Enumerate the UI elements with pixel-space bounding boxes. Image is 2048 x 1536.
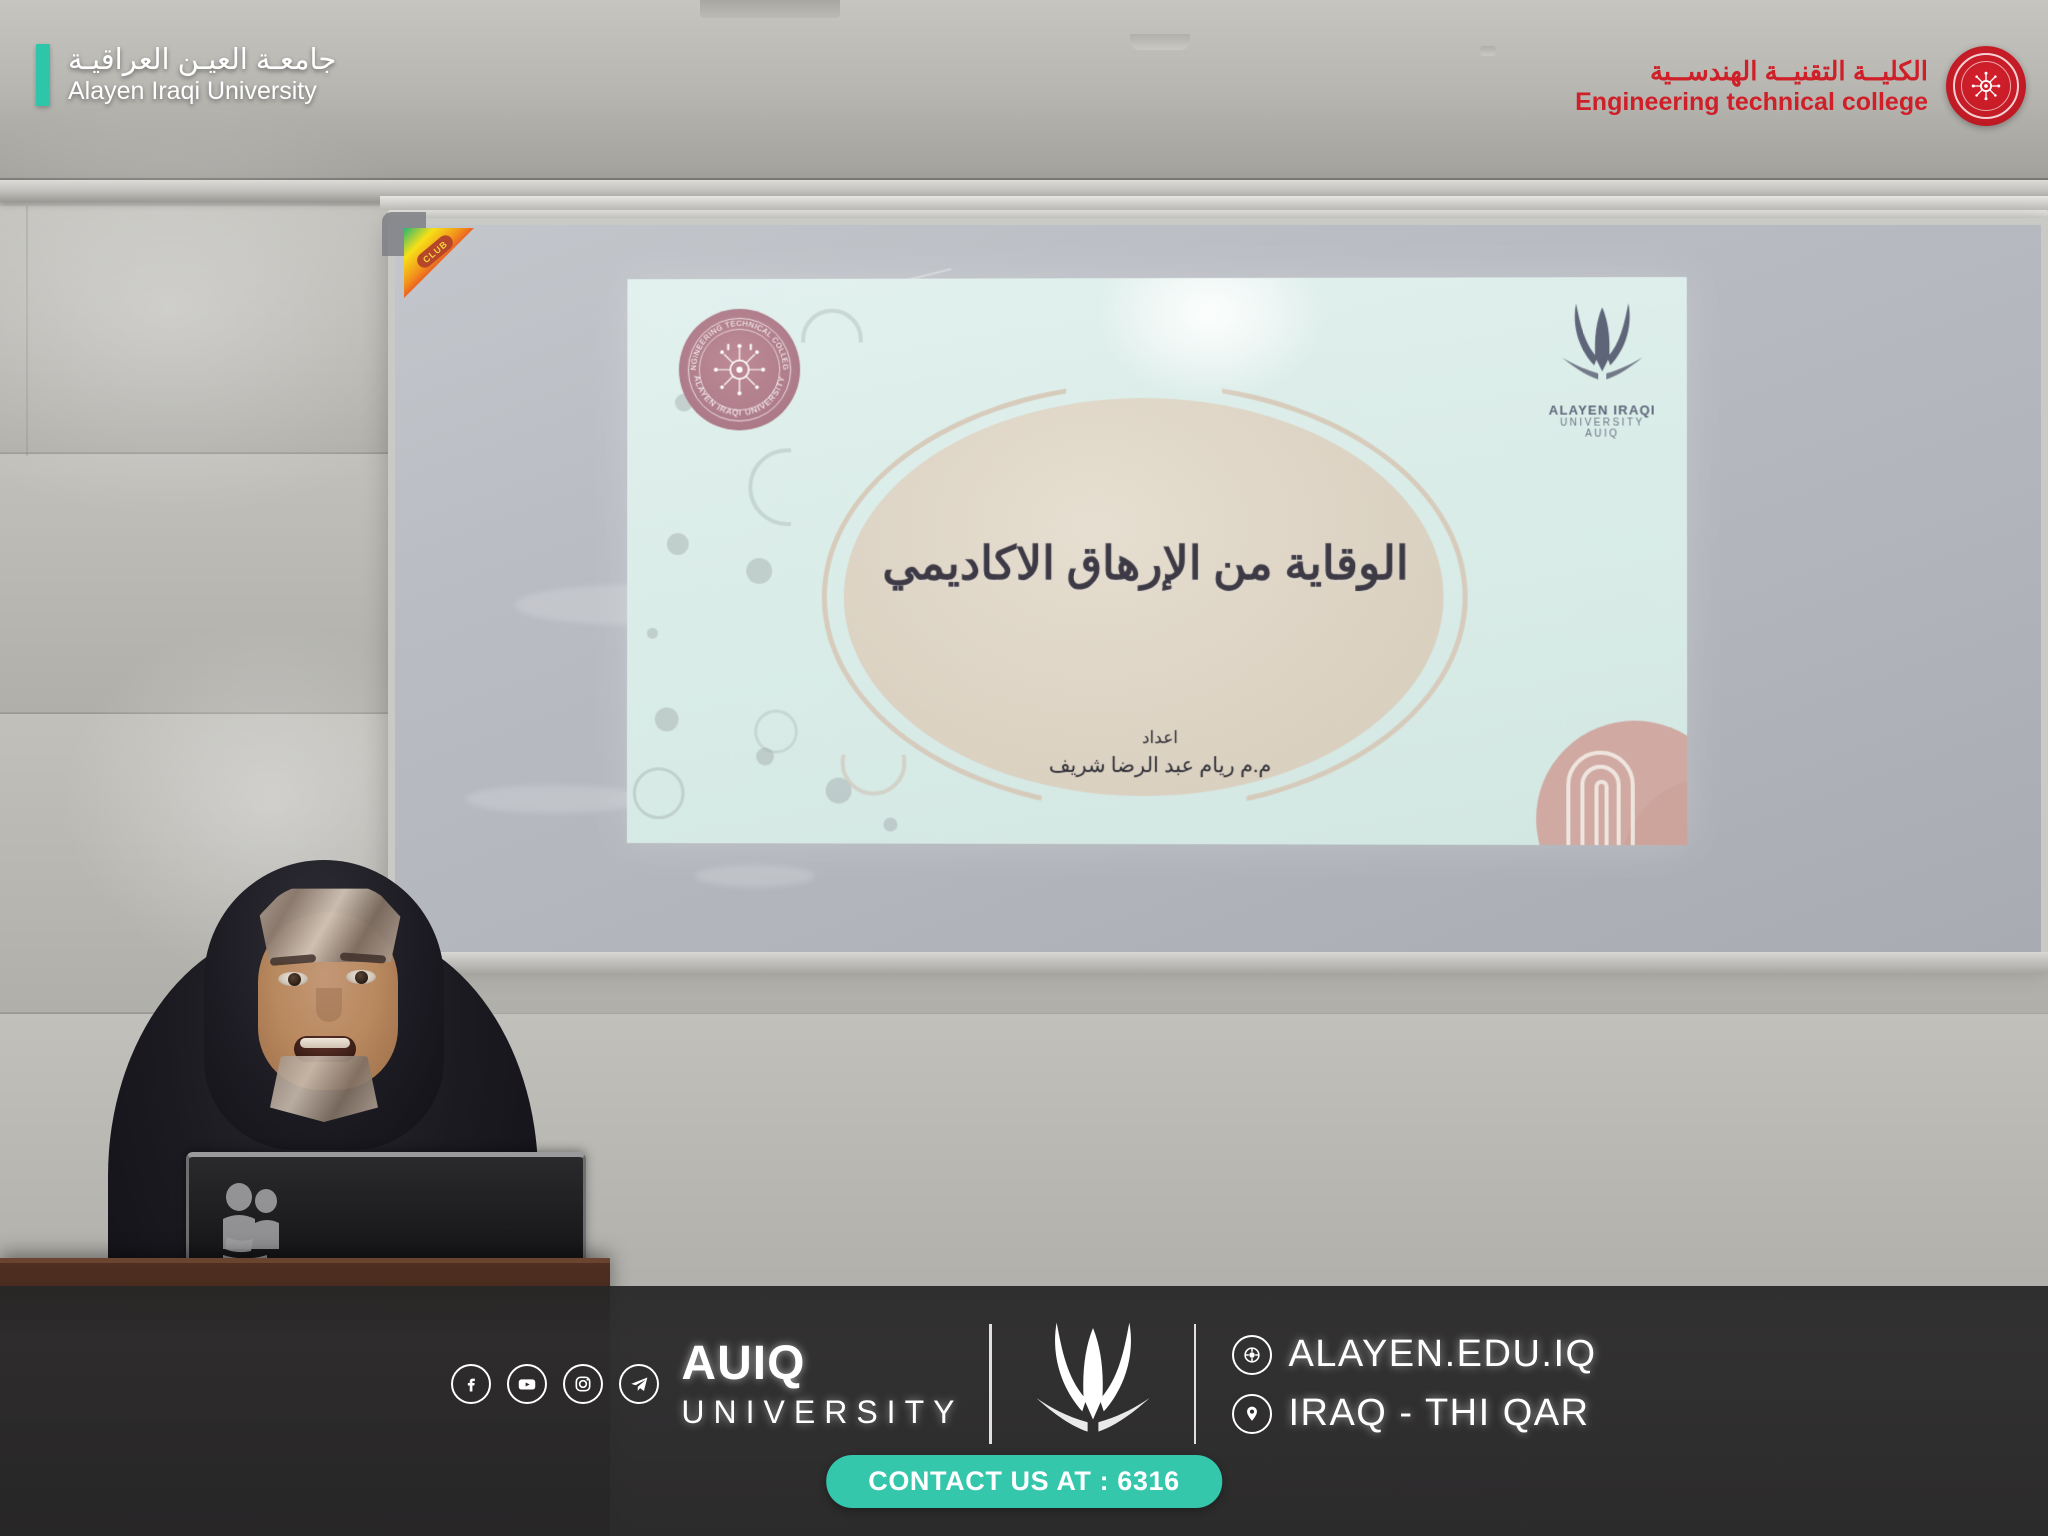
footer-content-row: AUIQ UNIVERSITY [0, 1308, 2048, 1460]
slide-credit-label: اعداد [925, 726, 1395, 750]
presenter-pupil-left [288, 973, 301, 986]
slide-ring [754, 710, 798, 754]
slide-credit-name: م.م ريام عبد الرضا شريف [925, 750, 1395, 782]
footer-logo [1018, 1309, 1168, 1459]
slide-dot [746, 558, 772, 584]
board-scuff-3 [695, 865, 815, 887]
brand-right-arabic: الكليــة التقنيــة الهندســية [1650, 57, 1928, 86]
wall-seam-2 [0, 712, 390, 714]
youtube-glyph [516, 1373, 538, 1395]
tulip-book-icon [1550, 299, 1655, 395]
slide-title: الوقاية من الإرهاق الاكاديمي [826, 536, 1466, 590]
wall-seam-vert-2 [26, 206, 28, 456]
college-brand-right: الكليــة التقنيــة الهندســية Engineerin… [1575, 46, 2026, 126]
laptop-lid [186, 1152, 586, 1272]
projector-hotspot [1095, 277, 1325, 398]
teal-accent-bar [36, 44, 50, 106]
facebook-icon[interactable] [451, 1364, 491, 1404]
slide-arc [748, 448, 826, 526]
globe-icon [1232, 1335, 1272, 1375]
slide-dot [883, 818, 897, 832]
ceiling-rail-inner [380, 196, 2048, 210]
circuit-chip-icon [709, 339, 771, 401]
facebook-glyph [461, 1374, 481, 1394]
brand-left-arabic: جامعـة العيـن العراقيـة [68, 44, 336, 77]
footer-contact-block: ALAYEN.EDU.IQ IRAQ - THI QAR [1232, 1333, 1596, 1435]
university-brand-left: جامعـة العيـن العراقيـة Alayen Iraqi Uni… [36, 44, 336, 106]
contact-website-line[interactable]: ALAYEN.EDU.IQ [1232, 1333, 1596, 1376]
slide-dot [647, 628, 658, 639]
slide-dot [655, 707, 679, 731]
globe-glyph [1241, 1344, 1263, 1366]
slide-arc [801, 309, 863, 371]
whiteboard-marker-tray [388, 952, 2048, 974]
slide-university-logo: ALAYEN IRAQI UNIVERSITY AUIQ [1532, 299, 1673, 440]
screw-head-1 [1480, 46, 1496, 56]
contact-location-text: IRAQ - THI QAR [1288, 1392, 1589, 1435]
social-icons-group [451, 1364, 659, 1404]
contact-location-line[interactable]: IRAQ - THI QAR [1232, 1392, 1596, 1435]
instagram-icon[interactable] [563, 1364, 603, 1404]
slide-logo-line1: ALAYEN IRAQI [1532, 402, 1673, 417]
footer-brand-block: AUIQ UNIVERSITY [681, 1340, 963, 1428]
presenter-teeth [300, 1038, 350, 1048]
contact-website-text: ALAYEN.EDU.IQ [1288, 1333, 1596, 1376]
footer-brand-line1: AUIQ [681, 1340, 963, 1388]
slide-credit-block: اعداد م.م ريام عبد الرضا شريف [925, 726, 1395, 782]
brand-left-english: Alayen Iraqi University [68, 78, 336, 106]
presenter-pupil-right [355, 971, 368, 984]
slide-dot [667, 533, 689, 555]
lecture-hall-screenshot: جامعـة العيـن العراقيـة Alayen Iraqi Uni… [0, 0, 2048, 1536]
circuit-seal-icon [1946, 46, 2026, 126]
board-scuff-2 [465, 785, 645, 813]
brand-right-english: Engineering technical college [1575, 89, 1928, 115]
slide-logo-line3: AUIQ [1532, 429, 1673, 440]
telegram-icon[interactable] [619, 1364, 659, 1404]
presenter-nose [316, 988, 342, 1022]
footer-divider-left [989, 1324, 992, 1444]
club-sticker: CLUB [404, 228, 474, 298]
ceiling-vent [700, 0, 840, 18]
slide-arch-lines [1558, 714, 1687, 845]
circuit-chip-icon [1969, 69, 2003, 103]
contact-cta-badge[interactable]: CONTACT US AT : 6316 [826, 1455, 1222, 1508]
footer-banner: AUIQ UNIVERSITY [0, 1286, 2048, 1536]
footer-divider-right [1194, 1324, 1197, 1444]
wall-bracket [1130, 34, 1190, 50]
slide-logo-line2: UNIVERSITY [1532, 417, 1673, 428]
slide-college-seal: ENGINEERING TECHNICAL COLLEGE ALAYEN IRA… [679, 309, 800, 431]
projected-slide: الوقاية من الإرهاق الاكاديمي اعداد م.م ر… [627, 277, 1687, 845]
slide-ring [633, 767, 685, 819]
youtube-icon[interactable] [507, 1364, 547, 1404]
location-pin-icon [1232, 1394, 1272, 1434]
slide-arc [841, 730, 907, 796]
location-pin-glyph [1241, 1403, 1263, 1425]
instagram-glyph [573, 1374, 593, 1394]
footer-brand-line2: UNIVERSITY [681, 1396, 963, 1428]
tulip-book-icon [1023, 1312, 1163, 1457]
telegram-glyph [629, 1374, 650, 1395]
